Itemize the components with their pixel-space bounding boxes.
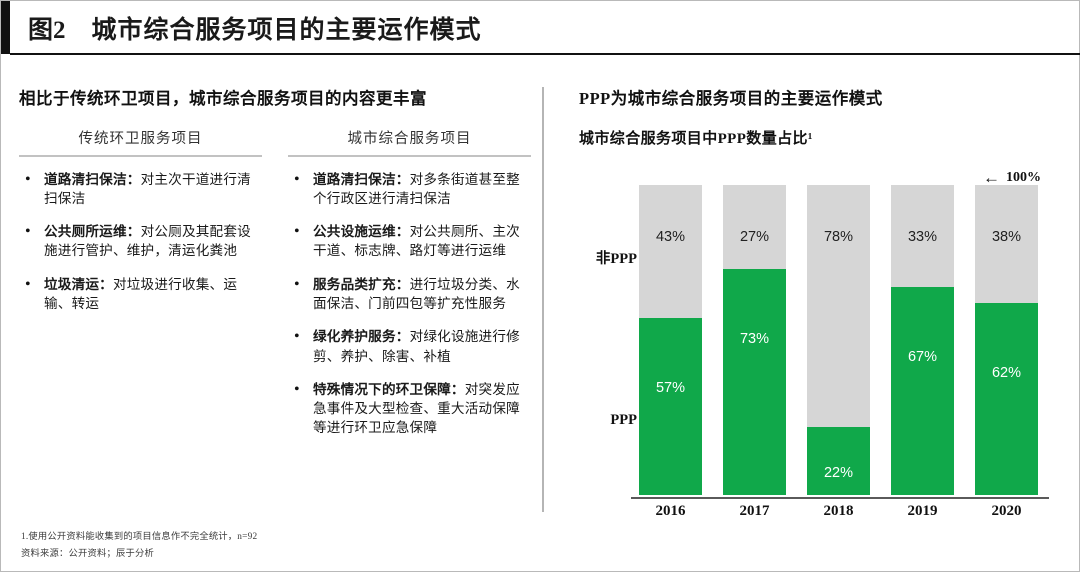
list-item-term: 服务品类扩充： <box>313 277 410 292</box>
column-title: 传统环卫服务项目 <box>19 127 262 155</box>
x-axis-tick: 2018 <box>807 503 870 520</box>
list-item: 特殊情况下的环卫保障：对突发应急事件及大型检查、重大活动保障等进行环卫应急保障 <box>288 380 531 438</box>
bar-label-ppp: 57% <box>639 380 702 396</box>
bar-segment-ppp: 57% <box>639 318 702 495</box>
list-item-term: 道路清扫保洁： <box>313 172 410 187</box>
list-item-term: 公共厕所运维： <box>44 224 141 239</box>
figure-number: 图2 <box>28 10 66 46</box>
bar-segment-non-ppp: 38% <box>975 185 1038 303</box>
right-panel-heading: PPP为城市综合服务项目的主要运作模式 <box>579 85 1071 109</box>
bar-group: 33%67% <box>891 185 954 495</box>
plot-area: 43%57%27%73%78%22%33%67%38%62% <box>639 175 1039 497</box>
left-panel-heading: 相比于传统环卫项目，城市综合服务项目的内容更丰富 <box>19 85 531 109</box>
title-bar: 图2 城市综合服务项目的主要运作模式 <box>1 1 1080 54</box>
bar-segment-non-ppp: 27% <box>723 185 786 269</box>
bar-label-non-ppp: 78% <box>807 229 870 245</box>
bar-label-non-ppp: 27% <box>723 229 786 245</box>
list-item-term: 绿化养护服务： <box>313 329 410 344</box>
bullet-list-integrated: 道路清扫保洁：对多条街道甚至整个行政区进行清扫保洁 公共设施运维：对公共厕所、主… <box>288 170 531 438</box>
list-item: 道路清扫保洁：对主次干道进行清扫保洁 <box>19 170 262 209</box>
footnotes: 1.使用公开资料能收集到的项目信息作不完全统计，n=92 资料来源：公开资料；辰… <box>21 529 641 563</box>
left-panel: 相比于传统环卫项目，城市综合服务项目的内容更丰富 传统环卫服务项目 道路清扫保洁… <box>19 85 531 452</box>
column-underline <box>288 155 531 157</box>
bar-segment-non-ppp: 78% <box>807 185 870 427</box>
footnote-source: 资料来源：公开资料；辰于分析 <box>21 546 641 563</box>
list-item: 绿化养护服务：对绿化设施进行修剪、养护、除害、补植 <box>288 327 531 366</box>
x-axis-line <box>631 497 1049 499</box>
page-title: 城市综合服务项目的主要运作模式 <box>92 10 482 46</box>
x-axis-tick: 2017 <box>723 503 786 520</box>
stacked-bar-chart: 非PPP PPP ← 100% 43%57%27%73%78%22%33%67%… <box>579 175 1077 535</box>
bar-segment-non-ppp: 33% <box>891 185 954 287</box>
chart-subtitle: 城市综合服务项目中PPP数量占比¹ <box>579 127 1071 148</box>
list-item: 公共设施运维：对公共厕所、主次干道、标志牌、路灯等进行运维 <box>288 222 531 261</box>
list-item-term: 道路清扫保洁： <box>44 172 141 187</box>
column-traditional: 传统环卫服务项目 道路清扫保洁：对主次干道进行清扫保洁 公共厕所运维：对公厕及其… <box>19 127 262 452</box>
figure-page: 图2 城市综合服务项目的主要运作模式 相比于传统环卫项目，城市综合服务项目的内容… <box>0 0 1080 572</box>
list-item-term: 特殊情况下的环卫保障： <box>313 382 465 397</box>
title-divider <box>10 53 1080 55</box>
column-integrated: 城市综合服务项目 道路清扫保洁：对多条街道甚至整个行政区进行清扫保洁 公共设施运… <box>288 127 531 452</box>
bar-label-ppp: 73% <box>723 331 786 347</box>
bar-label-ppp: 22% <box>807 465 870 481</box>
column-title: 城市综合服务项目 <box>288 127 531 155</box>
bar-segment-ppp: 73% <box>723 269 786 495</box>
list-item: 服务品类扩充：进行垃圾分类、水面保洁、门前四包等扩充性服务 <box>288 275 531 314</box>
bar-label-ppp: 62% <box>975 365 1038 381</box>
bar-group: 27%73% <box>723 185 786 495</box>
bar-label-non-ppp: 38% <box>975 229 1038 245</box>
bullet-list-traditional: 道路清扫保洁：对主次干道进行清扫保洁 公共厕所运维：对公厕及其配套设施进行管护、… <box>19 170 262 314</box>
bar-segment-ppp: 22% <box>807 427 870 495</box>
bar-label-non-ppp: 33% <box>891 229 954 245</box>
bar-group: 43%57% <box>639 185 702 495</box>
bar-segment-non-ppp: 43% <box>639 185 702 318</box>
list-item: 公共厕所运维：对公厕及其配套设施进行管护、维护，清运化粪池 <box>19 222 262 261</box>
list-item: 道路清扫保洁：对多条街道甚至整个行政区进行清扫保洁 <box>288 170 531 209</box>
list-item: 垃圾清运：对垃圾进行收集、运输、转运 <box>19 275 262 314</box>
bar-group: 78%22% <box>807 185 870 495</box>
x-axis-tick: 2019 <box>891 503 954 520</box>
x-axis-tick: 2016 <box>639 503 702 520</box>
bar-label-non-ppp: 43% <box>639 229 702 245</box>
column-underline <box>19 155 262 157</box>
bar-label-ppp: 67% <box>891 349 954 365</box>
bar-segment-ppp: 67% <box>891 287 954 495</box>
series-key-non-ppp: 非PPP <box>571 247 637 268</box>
footnote-1: 1.使用公开资料能收集到的项目信息作不完全统计，n=92 <box>21 529 641 546</box>
x-axis-tick: 2020 <box>975 503 1038 520</box>
comparison-columns: 传统环卫服务项目 道路清扫保洁：对主次干道进行清扫保洁 公共厕所运维：对公厕及其… <box>19 127 531 452</box>
panel-divider <box>542 87 544 512</box>
bar-group: 38%62% <box>975 185 1038 495</box>
right-panel: PPP为城市综合服务项目的主要运作模式 城市综合服务项目中PPP数量占比¹ <box>579 85 1071 148</box>
list-item-term: 垃圾清运： <box>44 277 113 292</box>
bar-segment-ppp: 62% <box>975 303 1038 495</box>
series-key-ppp: PPP <box>571 412 637 429</box>
list-item-term: 公共设施运维： <box>313 224 410 239</box>
